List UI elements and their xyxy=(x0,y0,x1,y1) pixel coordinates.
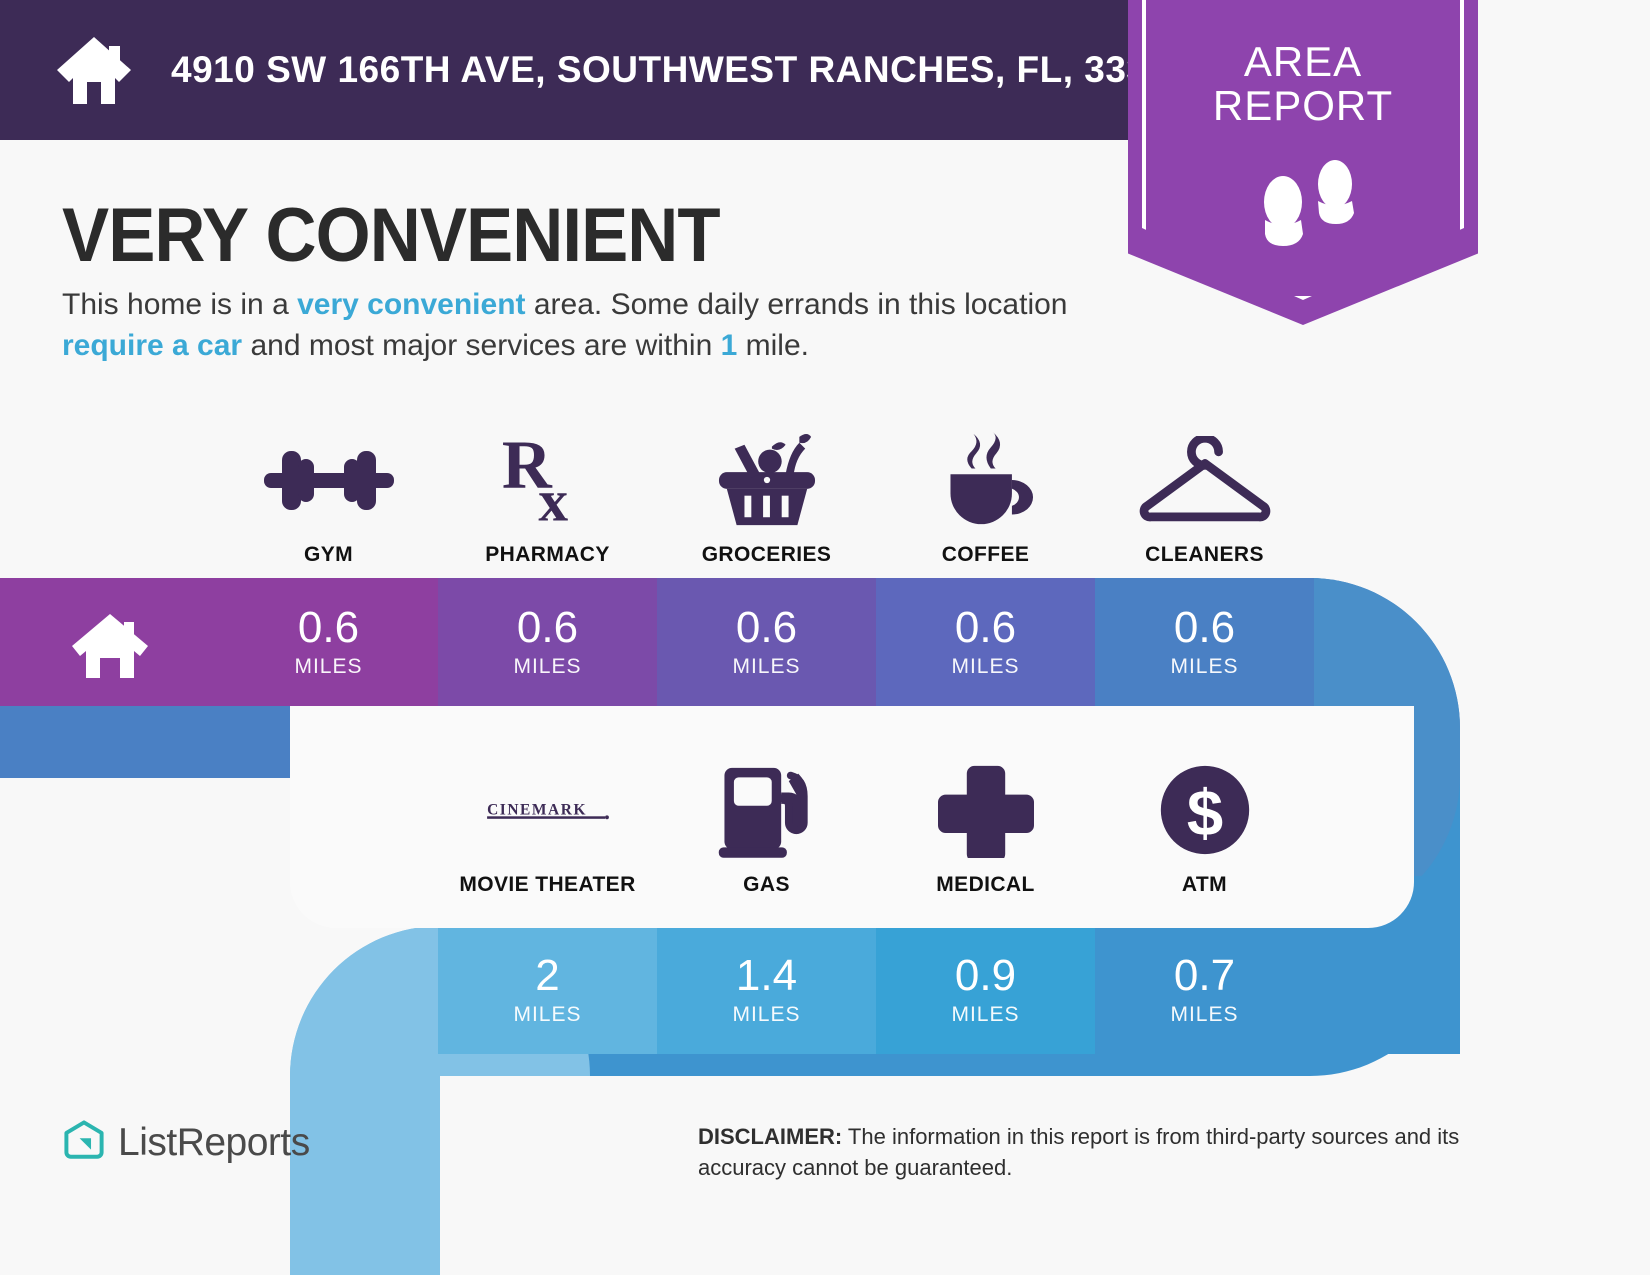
amenity-pharmacy: R x PHARMACY xyxy=(438,425,657,567)
distance-value: 2 xyxy=(535,954,559,998)
listreports-wordmark: ListReports xyxy=(118,1121,310,1165)
amenity-label: CLEANERS xyxy=(1095,543,1314,567)
amenity-label: GAS xyxy=(657,873,876,897)
distance-unit: MILES xyxy=(1170,655,1238,679)
distance-cell-coffee: 0.6 MILES xyxy=(876,578,1095,706)
amenity-gas: GAS xyxy=(657,755,876,897)
amenity-coffee: COFFEE xyxy=(876,425,1095,567)
dumbbell-icon xyxy=(219,425,438,535)
svg-text:CINEMARK: CINEMARK xyxy=(487,801,587,818)
distance-cell-atm: 0.7 MILES xyxy=(1095,926,1314,1054)
amenity-label: GROCERIES xyxy=(657,543,876,567)
prescription-rx-icon: R x xyxy=(438,425,657,535)
dollar-circle-icon: $ xyxy=(1095,755,1314,865)
distance-value: 0.6 xyxy=(955,606,1016,650)
amenity-label: MEDICAL xyxy=(876,873,1095,897)
amenity-medical: MEDICAL xyxy=(876,755,1095,897)
distance-unit: MILES xyxy=(513,1003,581,1027)
distance-unit: MILES xyxy=(951,1003,1019,1027)
distance-cell-pharmacy: 0.6 MILES xyxy=(438,578,657,706)
amenity-label: GYM xyxy=(219,543,438,567)
distance-cell-groceries: 0.6 MILES xyxy=(657,578,876,706)
distance-unit: MILES xyxy=(513,655,581,679)
distance-unit: MILES xyxy=(294,655,362,679)
amenity-atm: $ ATM xyxy=(1095,755,1314,897)
amenity-gym: GYM xyxy=(219,425,438,567)
distance-value: 0.6 xyxy=(1174,606,1235,650)
footprints-icon xyxy=(1255,160,1365,250)
disclaimer: DISCLAIMER: The information in this repo… xyxy=(698,1122,1518,1184)
distance-value: 0.6 xyxy=(736,606,797,650)
row1-distance-band: 0.6 MILES 0.6 MILES 0.6 MILES 0.6 MILES … xyxy=(0,578,1650,706)
listreports-logo[interactable]: ListReports xyxy=(62,1118,310,1167)
svg-text:$: $ xyxy=(1186,776,1222,849)
coffee-cup-icon xyxy=(876,425,1095,535)
row2-distance-band: 2 MILES 1.4 MILES 0.9 MILES 0.7 MILES xyxy=(0,926,1650,1054)
home-marker-cell xyxy=(0,578,219,706)
amenity-groceries: GROCERIES xyxy=(657,425,876,567)
distance-value: 0.7 xyxy=(1174,954,1235,998)
cinemark-logo: CINEMARK xyxy=(438,755,657,865)
home-icon xyxy=(70,606,150,678)
distance-cell-movie-theater: 2 MILES xyxy=(438,926,657,1054)
distance-cell-cleaners: 0.6 MILES xyxy=(1095,578,1314,706)
clothes-hanger-icon xyxy=(1095,425,1314,535)
shopping-basket-icon xyxy=(657,425,876,535)
amenity-label: MOVIE THEATER xyxy=(438,873,657,897)
distance-cell-gas: 1.4 MILES xyxy=(657,926,876,1054)
svg-text:x: x xyxy=(538,467,568,528)
amenity-movie-theater: CINEMARK MOVIE THEATER xyxy=(438,755,657,897)
gas-pump-icon xyxy=(657,755,876,865)
distance-value: 1.4 xyxy=(736,954,797,998)
distance-unit: MILES xyxy=(732,1003,800,1027)
disclaimer-label: DISCLAIMER: xyxy=(698,1124,842,1149)
listreports-house-icon xyxy=(62,1118,106,1167)
amenity-label: COFFEE xyxy=(876,543,1095,567)
amenity-cleaners: CLEANERS xyxy=(1095,425,1314,567)
badge-title: AREA REPORT xyxy=(1128,40,1478,128)
distance-value: 0.9 xyxy=(955,954,1016,998)
distance-unit: MILES xyxy=(951,655,1019,679)
badge-title-line1: AREA xyxy=(1128,40,1478,84)
distance-cell-medical: 0.9 MILES xyxy=(876,926,1095,1054)
distance-value: 0.6 xyxy=(517,606,578,650)
amenity-label: ATM xyxy=(1095,873,1314,897)
distance-value: 0.6 xyxy=(298,606,359,650)
distance-unit: MILES xyxy=(732,655,800,679)
badge-title-line2: REPORT xyxy=(1128,84,1478,128)
amenity-label: PHARMACY xyxy=(438,543,657,567)
distance-unit: MILES xyxy=(1170,1003,1238,1027)
medical-cross-icon xyxy=(876,755,1095,865)
distance-cell-gym: 0.6 MILES xyxy=(219,578,438,706)
